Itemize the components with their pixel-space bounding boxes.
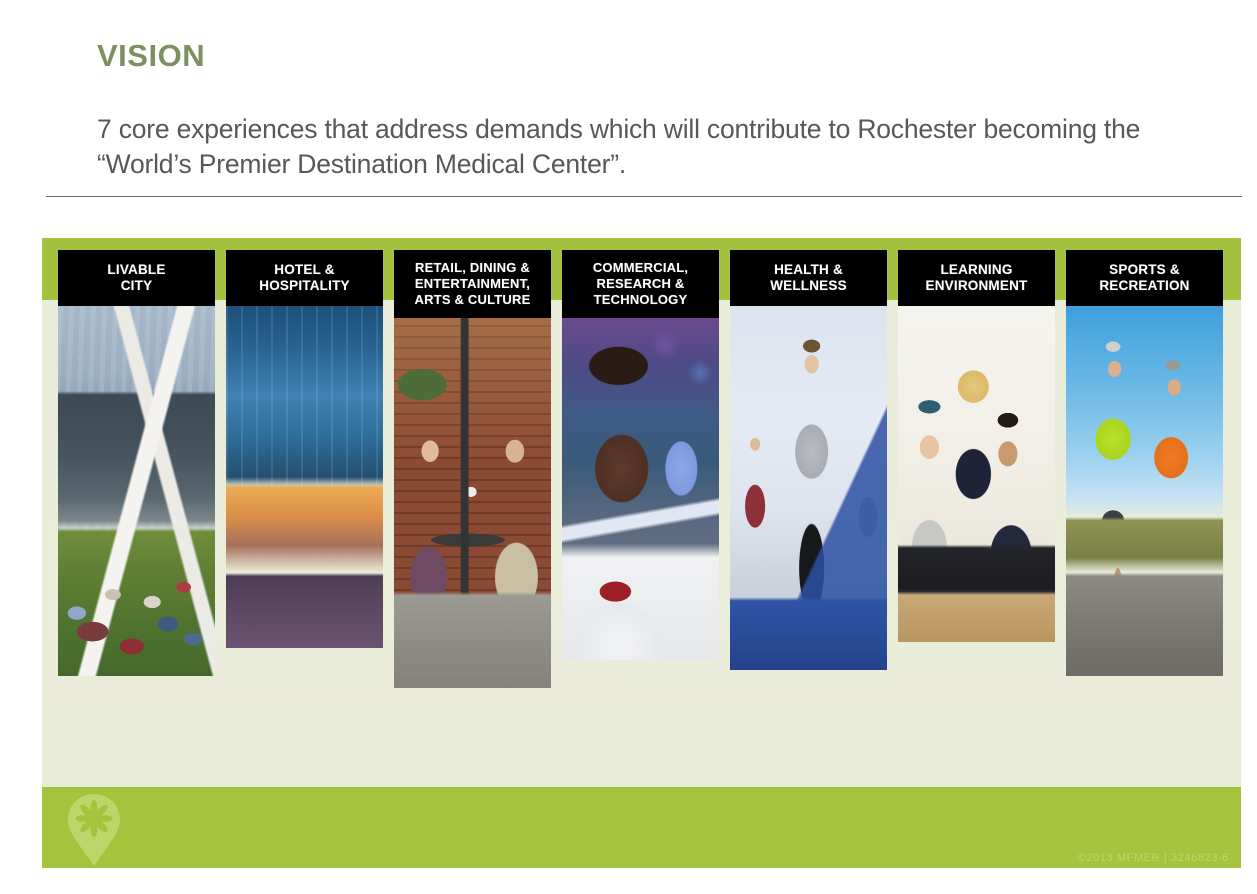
experience-column-learning-environment[interactable]: LEARNING ENVIRONMENT: [898, 250, 1055, 642]
experience-header-hotel-hospitality: HOTEL & HOSPITALITY: [226, 250, 383, 306]
experience-label-line: ENTERTAINMENT,: [415, 276, 530, 291]
experience-label-line: RECREATION: [1099, 278, 1189, 293]
experience-header-commercial-research: COMMERCIAL, RESEARCH & TECHNOLOGY: [562, 250, 719, 318]
slide-canvas: VISION 7 core experiences that address d…: [0, 0, 1257, 894]
experience-photo-retail-dining: [394, 318, 551, 688]
experience-header-learning-environment: LEARNING ENVIRONMENT: [898, 250, 1055, 306]
experience-label-line: COMMERCIAL,: [593, 260, 688, 275]
experience-label-line: RETAIL, DINING &: [415, 260, 530, 275]
experience-header-health-wellness: HEALTH & WELLNESS: [730, 250, 887, 306]
experience-label-line: HEALTH &: [774, 262, 843, 277]
experience-photo-livable-city: [58, 306, 215, 676]
page-title: VISION: [97, 38, 205, 74]
experience-label-line: HOSPITALITY: [259, 278, 349, 293]
experience-photo-health-wellness: [730, 306, 887, 670]
experience-label-line: WELLNESS: [770, 278, 847, 293]
experience-label-line: SPORTS &: [1109, 262, 1180, 277]
experience-label-line: HOTEL &: [274, 262, 334, 277]
experience-label-line: LEARNING: [940, 262, 1012, 277]
experience-label-line: CITY: [121, 278, 153, 293]
experience-column-livable-city[interactable]: LIVABLE CITY: [58, 250, 215, 676]
title-divider: [46, 196, 1242, 197]
experience-column-health-wellness[interactable]: HEALTH & WELLNESS: [730, 250, 887, 670]
experience-label-line: RESEARCH &: [597, 276, 685, 291]
footer-bar: [42, 787, 1241, 868]
experience-header-sports-recreation: SPORTS & RECREATION: [1066, 250, 1223, 306]
experience-column-sports-recreation[interactable]: SPORTS & RECREATION: [1066, 250, 1223, 676]
experience-label-line: TECHNOLOGY: [594, 292, 688, 307]
experience-photo-commercial-research: [562, 318, 719, 660]
slide-subtitle: 7 core experiences that address demands …: [97, 112, 1217, 182]
copyright-credit: ©2013 MFMER | 3246823-6: [1078, 852, 1229, 864]
experience-columns: LIVABLE CITY HOTEL & HOSPITALITY RETAIL,…: [42, 238, 1241, 787]
experience-header-retail-dining: RETAIL, DINING & ENTERTAINMENT, ARTS & C…: [394, 250, 551, 318]
experience-photo-sports-recreation: [1066, 306, 1223, 676]
experience-label-line: ENVIRONMENT: [926, 278, 1028, 293]
experience-photo-hotel-hospitality: [226, 306, 383, 648]
experience-column-hotel-hospitality[interactable]: HOTEL & HOSPITALITY: [226, 250, 383, 648]
experience-header-livable-city: LIVABLE CITY: [58, 250, 215, 306]
experience-label-line: LIVABLE: [107, 262, 165, 277]
experience-column-commercial-research[interactable]: COMMERCIAL, RESEARCH & TECHNOLOGY: [562, 250, 719, 660]
experience-photo-learning-environment: [898, 306, 1055, 642]
destination-medical-center-pin-logo-icon: [66, 793, 122, 867]
experience-label-line: ARTS & CULTURE: [415, 292, 531, 307]
experience-column-retail-dining[interactable]: RETAIL, DINING & ENTERTAINMENT, ARTS & C…: [394, 250, 551, 688]
